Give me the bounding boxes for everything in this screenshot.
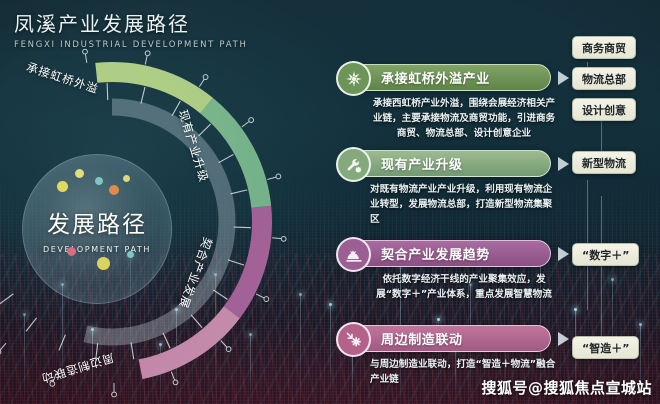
card-header[interactable]: 周边制造联动 [346,325,551,352]
tag-物流总部[interactable]: 物流总部 [572,67,636,90]
card-header[interactable]: 契合产业发展趋势 [346,240,551,267]
card-title: 周边制造联动 [381,329,463,348]
card-title: 承接虹桥外溢产业 [381,68,490,87]
card-title: 现有产业升级 [381,154,463,173]
card-契合产业发展趋势[interactable]: 契合产业发展趋势 依托数字经济干线的产业聚集效应，发展“数字＋”产业体系，重点发… [346,240,551,303]
watermark: 搜狐号@搜狐焦点宣城站 [481,377,652,398]
wrench-icon [336,147,371,182]
card-现有产业升级[interactable]: 现有产业升级 对既有物流产业产业升级，利用现有物流企业转型，发展物流总部，打造新… [346,150,551,228]
core-circle: 发展路径 DEVELOPMENT PATH [22,154,172,304]
confetti-dot [95,177,103,185]
card-description: 对既有物流产业产业升级，利用现有物流企业转型，发展物流总部，打造新型物流集聚区 [370,183,558,228]
confetti-dot [127,251,134,258]
confetti-dot [123,175,130,182]
chevron-right-icon[interactable] [558,71,569,85]
development-path-wheel: 发展路径 DEVELOPMENT PATH 承接虹桥外溢 现有产业升级 契合产业… [0,42,322,402]
tag-数字加[interactable]: “数字＋” [572,243,639,266]
confetti-dot [75,169,84,178]
confetti-dot [109,185,119,195]
chevron-right-icon[interactable] [558,247,569,261]
confetti-dot [57,181,68,192]
arrow-star-icon [336,322,371,357]
card-header[interactable]: 现有产业升级 [346,150,551,177]
lead-line-4 [601,196,602,336]
infographic-canvas: 凤溪产业发展路径 FENGXI INDUSTRIAL DEVELOPMENT P… [0,0,660,404]
card-description: 承接西虹桥产业外溢，围绕会展经济相关产业链，主要承接物流及商贸功能，引进商务商贸… [370,97,558,142]
confetti-dot [97,257,110,270]
card-description: 依托数字经济干线的产业聚集效应，发展“数字＋”产业体系，重点发展智慧物流 [370,273,558,303]
confetti-dot [67,247,76,256]
card-title: 契合产业发展趋势 [381,244,490,263]
card-承接虹桥外溢产业[interactable]: 承接虹桥外溢产业 承接西虹桥产业外溢，围绕会展经济相关产业链，主要承接物流及商贸… [346,64,551,142]
tag-设计创意[interactable]: 设计创意 [572,98,636,121]
tag-智造加[interactable]: “智造＋” [572,336,639,359]
core-label-english: DEVELOPMENT PATH [43,245,151,254]
title-chinese: 凤溪产业发展路径 [14,8,248,37]
tag-商务商贸[interactable]: 商务商贸 [572,36,636,59]
bull-trend-icon [336,237,371,272]
burst-icon [336,61,371,96]
chevron-right-icon[interactable] [558,332,569,346]
tag-新型物流[interactable]: 新型物流 [572,151,636,174]
core-label-chinese: 发展路径 [47,205,147,239]
chevron-right-icon[interactable] [558,157,569,171]
card-header[interactable]: 承接虹桥外溢产业 [346,64,551,91]
